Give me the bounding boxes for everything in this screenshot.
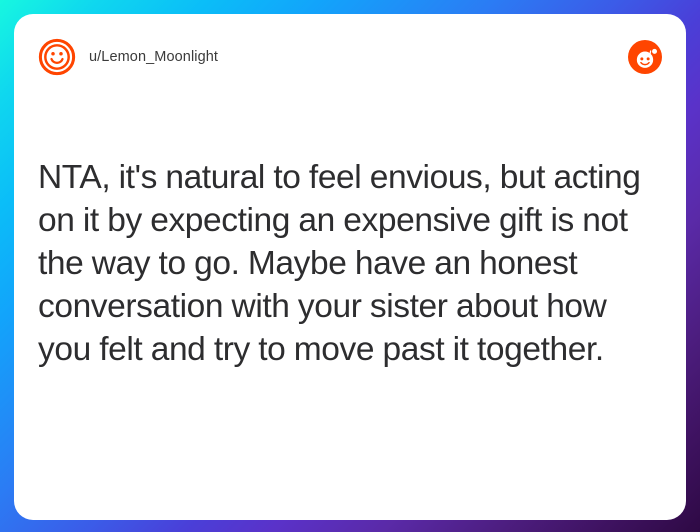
author-block[interactable]: u/Lemon_Moonlight: [38, 38, 628, 76]
post-header: u/Lemon_Moonlight: [14, 14, 686, 100]
gradient-background: u/Lemon_Moonlight NTA, it's natural to f…: [0, 0, 700, 532]
author-username: u/Lemon_Moonlight: [89, 49, 218, 65]
reddit-snoo-icon[interactable]: [628, 40, 662, 74]
smiley-face-icon: [38, 38, 76, 76]
post-text: NTA, it's natural to feel envious, but a…: [38, 156, 664, 371]
post-body: NTA, it's natural to feel envious, but a…: [38, 156, 664, 371]
reddit-post-card: u/Lemon_Moonlight NTA, it's natural to f…: [14, 14, 686, 520]
